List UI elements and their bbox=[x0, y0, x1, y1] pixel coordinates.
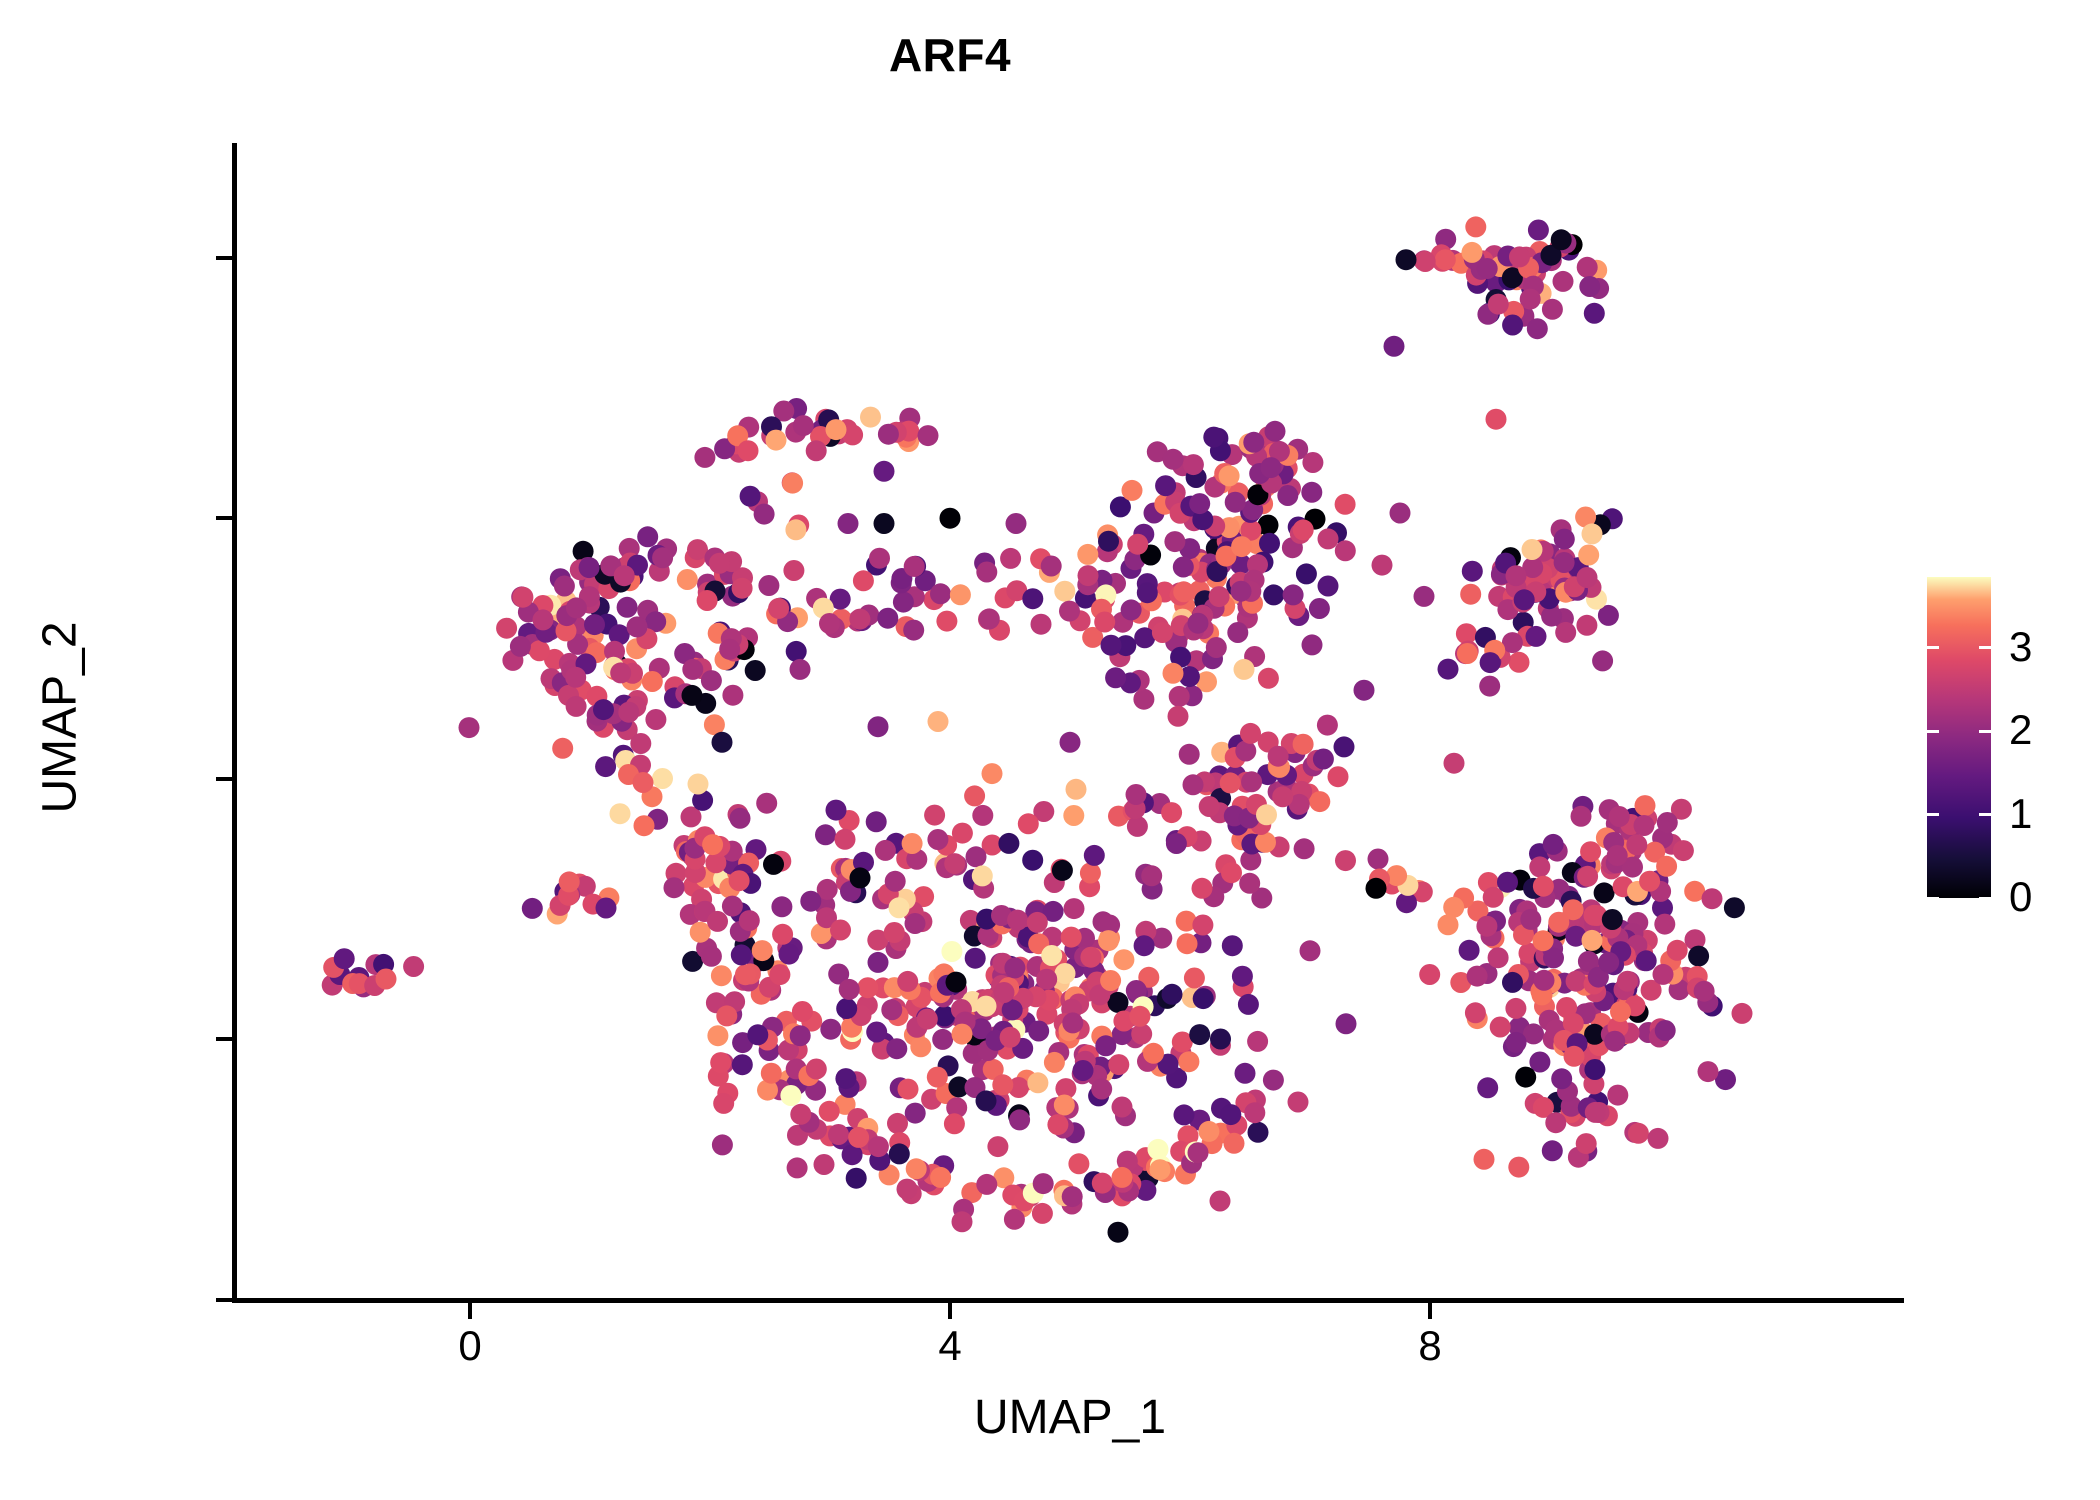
scatter-point bbox=[735, 964, 756, 985]
scatter-point bbox=[839, 979, 860, 1000]
scatter-point bbox=[1288, 1092, 1309, 1113]
scatter-point bbox=[1584, 1059, 1605, 1080]
scatter-point bbox=[1066, 779, 1087, 800]
scatter-point bbox=[806, 440, 827, 461]
scatter-point bbox=[732, 1054, 753, 1075]
scatter-point bbox=[403, 956, 424, 977]
scatter-point bbox=[1465, 216, 1486, 237]
scatter-point bbox=[1126, 784, 1147, 805]
scatter-point bbox=[1655, 1020, 1676, 1041]
scatter-point bbox=[1177, 933, 1198, 954]
scatter-point bbox=[1052, 860, 1073, 881]
scatter-point bbox=[712, 1134, 733, 1155]
scatter-point bbox=[1027, 912, 1048, 933]
scatter-point bbox=[1131, 1024, 1152, 1045]
scatter-point bbox=[1192, 878, 1213, 899]
scatter-point bbox=[1192, 915, 1213, 936]
colorbar-tick-mark bbox=[1927, 730, 1939, 733]
scatter-point bbox=[1497, 872, 1518, 893]
scatter-point bbox=[1224, 1133, 1245, 1154]
scatter-point bbox=[1419, 964, 1440, 985]
scatter-point bbox=[1309, 598, 1330, 619]
scatter-point bbox=[1044, 1052, 1065, 1073]
scatter-point bbox=[1189, 1024, 1210, 1045]
scatter-point bbox=[713, 1093, 734, 1114]
scatter-point bbox=[1578, 545, 1599, 566]
scatter-point bbox=[1335, 850, 1356, 871]
scatter-point bbox=[1585, 1102, 1606, 1123]
scatter-point bbox=[1112, 1167, 1133, 1188]
y-tick-mark bbox=[216, 777, 232, 781]
scatter-point bbox=[771, 896, 792, 917]
scatter-point bbox=[1506, 565, 1527, 586]
scatter-point bbox=[1553, 271, 1574, 292]
scatter-point bbox=[682, 685, 703, 706]
scatter-point bbox=[1009, 1109, 1030, 1130]
scatter-point bbox=[906, 1158, 927, 1179]
scatter-point bbox=[614, 565, 635, 586]
scatter-point bbox=[1635, 795, 1656, 816]
scatter-point bbox=[964, 785, 985, 806]
scatter-point bbox=[677, 569, 698, 590]
scatter-point bbox=[1112, 1097, 1133, 1118]
scatter-point bbox=[1078, 565, 1099, 586]
scatter-point bbox=[893, 592, 914, 613]
scatter-point bbox=[1617, 971, 1638, 992]
scatter-point bbox=[1594, 882, 1615, 903]
scatter-point bbox=[987, 1136, 1008, 1157]
scatter-point bbox=[1576, 615, 1597, 636]
scatter-point bbox=[944, 853, 965, 874]
scatter-point bbox=[1219, 465, 1240, 486]
scatter-point bbox=[868, 716, 889, 737]
scatter-point bbox=[1592, 650, 1613, 671]
scatter-point bbox=[1580, 841, 1601, 862]
scatter-point bbox=[1300, 940, 1321, 961]
y-tick-mark bbox=[216, 1037, 232, 1041]
scatter-point bbox=[1004, 1209, 1025, 1230]
scatter-point bbox=[1060, 732, 1081, 753]
scatter-point bbox=[1022, 850, 1043, 871]
scatter-point bbox=[701, 946, 722, 967]
scatter-point bbox=[1414, 586, 1435, 607]
scatter-point bbox=[1077, 544, 1098, 565]
scatter-point bbox=[593, 699, 614, 720]
scatter-point bbox=[1000, 1027, 1021, 1048]
scatter-point bbox=[1206, 637, 1227, 658]
colorbar-tick-mark bbox=[1927, 813, 1939, 816]
scatter-point bbox=[1247, 1031, 1268, 1052]
scatter-point bbox=[459, 717, 480, 738]
x-tick-label: 4 bbox=[890, 1325, 1010, 1367]
scatter-point bbox=[1368, 849, 1389, 870]
scatter-point bbox=[836, 998, 857, 1019]
scatter-point bbox=[1220, 1104, 1241, 1125]
scatter-point bbox=[874, 461, 895, 482]
scatter-point bbox=[1435, 249, 1456, 270]
scatter-point bbox=[716, 1005, 737, 1026]
colorbar-tick-label: 0 bbox=[2009, 876, 2032, 918]
scatter-point bbox=[1248, 1122, 1269, 1143]
scatter-point bbox=[1225, 492, 1246, 513]
scatter-point bbox=[1283, 584, 1304, 605]
scatter-point bbox=[1515, 1067, 1536, 1088]
scatter-point bbox=[627, 616, 648, 637]
scatter-point bbox=[889, 1143, 910, 1164]
scatter-point bbox=[885, 871, 906, 892]
scatter-point bbox=[710, 1052, 731, 1073]
scatter-point bbox=[826, 419, 847, 440]
scatter-point bbox=[835, 829, 856, 850]
scatter-point bbox=[857, 977, 878, 998]
scatter-point bbox=[886, 1038, 907, 1059]
scatter-point bbox=[1108, 1054, 1129, 1075]
scatter-point bbox=[1584, 905, 1605, 926]
scatter-point bbox=[1033, 1173, 1054, 1194]
scatter-point bbox=[1372, 555, 1393, 576]
scatter-point bbox=[1548, 912, 1569, 933]
scatter-point bbox=[1055, 963, 1076, 984]
scatter-point bbox=[630, 733, 651, 754]
x-tick-mark bbox=[468, 1303, 472, 1319]
scatter-point bbox=[924, 805, 945, 826]
scatter-point bbox=[1084, 845, 1105, 866]
scatter-point bbox=[994, 982, 1015, 1003]
scatter-point bbox=[376, 969, 397, 990]
scatter-point bbox=[732, 578, 753, 599]
x-tick-label: 0 bbox=[410, 1325, 530, 1367]
umap-feature-plot: ARF4 -2.50.02.55.07.5048 UMAP_1 UMAP_2 0… bbox=[0, 0, 2100, 1500]
scatter-point bbox=[722, 896, 743, 917]
scatter-point bbox=[1607, 1085, 1628, 1106]
scatter-point bbox=[1210, 1029, 1231, 1050]
scatter-point bbox=[998, 833, 1019, 854]
scatter-point bbox=[1545, 1112, 1566, 1133]
colorbar-tick-mark bbox=[1979, 813, 1991, 816]
scatter-point bbox=[779, 944, 800, 965]
scatter-point bbox=[1091, 1079, 1112, 1100]
scatter-point bbox=[1390, 503, 1411, 524]
page-title: ARF4 bbox=[0, 28, 1900, 82]
scatter-point bbox=[769, 964, 790, 985]
scatter-point bbox=[595, 756, 616, 777]
scatter-point bbox=[820, 1019, 841, 1040]
scatter-point bbox=[1238, 994, 1259, 1015]
scatter-point bbox=[1268, 746, 1289, 767]
scatter-point bbox=[565, 667, 586, 688]
scatter-point bbox=[729, 870, 750, 891]
x-tick-mark bbox=[948, 1303, 952, 1319]
scatter-point bbox=[559, 871, 580, 892]
scatter-point bbox=[566, 597, 587, 618]
scatter-point bbox=[768, 598, 789, 619]
scatter-point bbox=[1577, 567, 1598, 588]
scatter-point bbox=[1134, 935, 1155, 956]
x-tick-label: 8 bbox=[1370, 1325, 1490, 1367]
colorbar-tick-mark bbox=[1979, 730, 1991, 733]
scatter-point bbox=[928, 711, 949, 732]
scatter-point bbox=[1150, 1159, 1171, 1180]
scatter-point bbox=[806, 1059, 827, 1080]
scatter-point bbox=[1366, 878, 1387, 899]
scatter-points-layer bbox=[236, 143, 1904, 1300]
scatter-point bbox=[1505, 998, 1526, 1019]
scatter-point bbox=[1488, 947, 1509, 968]
scatter-point bbox=[1465, 1002, 1486, 1023]
scatter-point bbox=[1294, 838, 1315, 859]
scatter-point bbox=[1152, 622, 1173, 643]
scatter-point bbox=[610, 803, 631, 824]
colorbar-gradient bbox=[1927, 577, 1991, 898]
scatter-point bbox=[633, 772, 654, 793]
scatter-point bbox=[1101, 635, 1122, 656]
scatter-point bbox=[782, 473, 803, 494]
scatter-point bbox=[758, 575, 779, 596]
scatter-point bbox=[1178, 1051, 1199, 1072]
scatter-point bbox=[1566, 971, 1587, 992]
scatter-point bbox=[1227, 622, 1248, 643]
scatter-point bbox=[972, 865, 993, 886]
scatter-point bbox=[793, 415, 814, 436]
scatter-point bbox=[814, 1154, 835, 1175]
scatter-point bbox=[1328, 766, 1349, 787]
scatter-point bbox=[819, 613, 840, 634]
scatter-point bbox=[707, 911, 728, 932]
scatter-point bbox=[1502, 972, 1523, 993]
scatter-point bbox=[522, 898, 543, 919]
scatter-point bbox=[1260, 457, 1281, 478]
scatter-point bbox=[1490, 1017, 1511, 1038]
scatter-point bbox=[731, 944, 752, 965]
scatter-point bbox=[1477, 258, 1498, 279]
scatter-point bbox=[1653, 964, 1674, 985]
scatter-point bbox=[1486, 409, 1507, 430]
scatter-point bbox=[496, 618, 517, 639]
scatter-point bbox=[1143, 1043, 1164, 1064]
scatter-point bbox=[652, 547, 673, 568]
scatter-point bbox=[566, 696, 587, 717]
x-axis-line bbox=[232, 1298, 1904, 1303]
scatter-point bbox=[1133, 689, 1154, 710]
scatter-point bbox=[790, 1025, 811, 1046]
scatter-point bbox=[1415, 251, 1436, 272]
scatter-point bbox=[1134, 627, 1155, 648]
scatter-point bbox=[785, 519, 806, 540]
scatter-point bbox=[1584, 303, 1605, 324]
scatter-point bbox=[1604, 1031, 1625, 1052]
scatter-point bbox=[1108, 992, 1129, 1013]
scatter-point bbox=[1243, 432, 1264, 453]
scatter-point bbox=[982, 763, 1003, 784]
scatter-point bbox=[1335, 540, 1356, 561]
scatter-point bbox=[1220, 772, 1241, 793]
scatter-point bbox=[740, 486, 761, 507]
scatter-point bbox=[903, 620, 924, 641]
scatter-point bbox=[952, 1024, 973, 1045]
scatter-point bbox=[889, 897, 910, 918]
scatter-point bbox=[1263, 584, 1284, 605]
scatter-point bbox=[1061, 927, 1082, 948]
scatter-point bbox=[1477, 1077, 1498, 1098]
colorbar-tick-mark bbox=[1979, 646, 1991, 649]
scatter-point bbox=[738, 440, 759, 461]
scatter-point bbox=[1636, 950, 1657, 971]
scatter-point bbox=[1598, 952, 1619, 973]
scatter-point bbox=[634, 815, 655, 836]
scatter-point bbox=[940, 508, 961, 529]
scatter-point bbox=[1232, 966, 1253, 987]
scatter-point bbox=[838, 513, 859, 534]
scatter-point bbox=[697, 590, 718, 611]
scatter-point bbox=[877, 608, 898, 629]
scatter-point bbox=[1221, 862, 1242, 883]
scatter-point bbox=[1027, 1072, 1048, 1093]
scatter-point bbox=[1173, 557, 1194, 578]
scatter-point bbox=[1673, 840, 1694, 861]
scatter-point bbox=[1188, 1142, 1209, 1163]
scatter-point bbox=[1244, 1102, 1265, 1123]
scatter-point bbox=[1527, 318, 1548, 339]
scatter-point bbox=[819, 1101, 840, 1122]
y-axis-line bbox=[232, 143, 237, 1303]
scatter-point bbox=[1502, 315, 1523, 336]
scatter-point bbox=[1577, 257, 1598, 278]
scatter-point bbox=[976, 1174, 997, 1195]
scatter-point bbox=[950, 584, 971, 605]
scatter-point bbox=[688, 774, 709, 795]
scatter-point bbox=[1354, 680, 1375, 701]
scatter-point bbox=[904, 556, 925, 577]
scatter-point bbox=[1480, 652, 1501, 673]
scatter-point bbox=[1063, 805, 1084, 826]
scatter-point bbox=[848, 1127, 869, 1148]
scatter-point bbox=[790, 1104, 811, 1125]
scatter-point bbox=[745, 660, 766, 681]
scatter-point bbox=[1543, 834, 1564, 855]
scatter-point bbox=[1028, 1021, 1049, 1042]
scatter-point bbox=[905, 913, 926, 934]
scatter-point bbox=[642, 671, 663, 692]
scatter-point bbox=[936, 611, 957, 632]
scatter-point bbox=[1092, 1173, 1113, 1194]
scatter-point bbox=[702, 834, 723, 855]
scatter-point bbox=[1127, 816, 1148, 837]
scatter-point bbox=[1542, 1140, 1563, 1161]
scatter-point bbox=[1476, 916, 1497, 937]
colorbar-tick-mark bbox=[1979, 897, 1991, 900]
scatter-point bbox=[866, 1022, 887, 1043]
scatter-point bbox=[1554, 552, 1575, 573]
scatter-point bbox=[1576, 1133, 1597, 1154]
scatter-point bbox=[1293, 734, 1314, 755]
scatter-point bbox=[1184, 968, 1205, 989]
scatter-point bbox=[1004, 957, 1025, 978]
scatter-point bbox=[1688, 946, 1709, 967]
scatter-point bbox=[792, 1001, 813, 1022]
scatter-point bbox=[1234, 659, 1255, 680]
scatter-point bbox=[944, 1113, 965, 1134]
scatter-point bbox=[772, 924, 793, 945]
scatter-point bbox=[1554, 529, 1575, 550]
y-tick-mark bbox=[216, 1298, 232, 1302]
scatter-point bbox=[1032, 1203, 1053, 1224]
scatter-point bbox=[1571, 806, 1592, 827]
scatter-point bbox=[711, 965, 732, 986]
scatter-point bbox=[1698, 1061, 1719, 1082]
scatter-point bbox=[1462, 561, 1483, 582]
scatter-point bbox=[1163, 449, 1184, 470]
scatter-point bbox=[1551, 1068, 1572, 1089]
scatter-point bbox=[554, 576, 575, 597]
scatter-point bbox=[1255, 832, 1276, 853]
scatter-point bbox=[1272, 786, 1293, 807]
scatter-point bbox=[1724, 897, 1745, 918]
scatter-point bbox=[992, 1074, 1013, 1095]
scatter-point bbox=[1317, 715, 1338, 736]
scatter-point bbox=[1231, 581, 1252, 602]
scatter-point bbox=[1732, 1003, 1753, 1024]
scatter-point bbox=[552, 738, 573, 759]
scatter-point bbox=[1564, 1046, 1585, 1067]
scatter-point bbox=[701, 670, 722, 691]
colorbar-tick-label: 1 bbox=[2009, 793, 2032, 835]
scatter-point bbox=[690, 922, 711, 943]
scatter-point bbox=[1657, 812, 1678, 833]
scatter-point bbox=[1166, 833, 1187, 854]
scatter-point bbox=[1256, 804, 1277, 825]
scatter-point bbox=[1062, 1012, 1083, 1033]
x-tick-mark bbox=[1428, 1303, 1432, 1319]
scatter-point bbox=[1098, 930, 1119, 951]
scatter-point bbox=[1384, 336, 1405, 357]
scatter-point bbox=[850, 867, 871, 888]
scatter-point bbox=[1174, 1104, 1195, 1125]
y-axis-title: UMAP_2 bbox=[33, 138, 88, 1298]
scatter-point bbox=[1438, 914, 1459, 935]
scatter-point bbox=[1457, 643, 1478, 664]
scatter-point bbox=[1161, 802, 1182, 823]
scatter-point bbox=[1141, 865, 1162, 886]
scatter-point bbox=[1094, 612, 1115, 633]
scatter-point bbox=[510, 636, 531, 657]
plot-panel bbox=[236, 143, 1904, 1300]
scatter-point bbox=[1173, 581, 1194, 602]
scatter-point bbox=[1163, 663, 1184, 684]
scatter-point bbox=[932, 1029, 953, 1050]
scatter-point bbox=[1514, 589, 1535, 610]
scatter-point bbox=[930, 1167, 951, 1188]
scatter-point bbox=[1555, 622, 1576, 643]
scatter-point bbox=[918, 425, 939, 446]
scatter-point bbox=[869, 548, 890, 569]
scatter-point bbox=[849, 609, 870, 630]
scatter-point bbox=[783, 560, 804, 581]
scatter-point bbox=[709, 553, 730, 574]
scatter-point bbox=[1235, 1063, 1256, 1084]
scatter-point bbox=[1509, 652, 1530, 673]
scatter-point bbox=[1610, 1001, 1631, 1022]
scatter-point bbox=[1318, 528, 1339, 549]
scatter-point bbox=[579, 557, 600, 578]
scatter-point bbox=[1155, 475, 1176, 496]
scatter-point bbox=[828, 1124, 849, 1145]
scatter-point bbox=[1318, 576, 1339, 597]
scatter-point bbox=[1018, 813, 1039, 834]
scatter-point bbox=[1396, 249, 1417, 270]
scatter-point bbox=[1235, 741, 1256, 762]
scatter-point bbox=[1551, 229, 1572, 250]
scatter-point bbox=[1179, 744, 1200, 765]
